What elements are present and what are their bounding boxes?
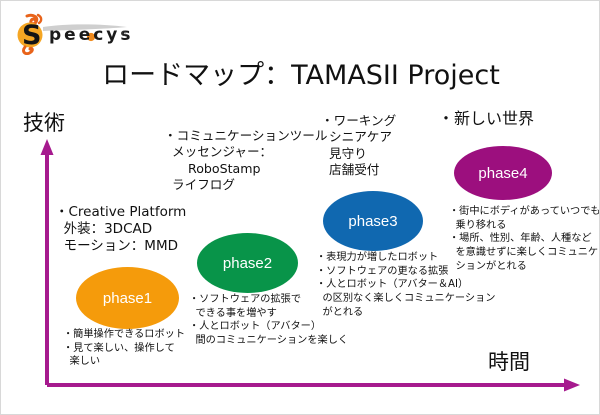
phase4-heading: ・新しい世界 bbox=[438, 109, 534, 130]
phase3-heading: ・ワーキング シニアケア 見守り 店舗受付 bbox=[321, 113, 396, 178]
logo-s-letter: S bbox=[22, 20, 41, 51]
phase1-label: phase1 bbox=[103, 290, 152, 307]
registered-mark: ® bbox=[121, 31, 126, 38]
phase3-bubble[interactable]: phase3 bbox=[323, 191, 423, 251]
y-axis-arrowhead bbox=[41, 139, 54, 155]
phase4-bubble[interactable]: phase4 bbox=[454, 146, 552, 200]
speecys-logo: S peecys ® bbox=[9, 13, 134, 55]
phase3-label: phase3 bbox=[348, 213, 397, 230]
phase4-description: ・街中にボディがあっていつでも 乗り移れる ・場所、性別、年齢、人種など を意識… bbox=[449, 205, 600, 273]
phase1-description: ・簡単操作できるロボット ・見て楽しい、操作して 楽しい bbox=[63, 328, 185, 369]
phase1-heading: ・Creative Platform 外装：3DCAD モーション：MMD bbox=[55, 204, 186, 255]
roadmap-slide: S peecys ® ロードマップ：TAMASII Project 技術 時間 … bbox=[0, 0, 600, 415]
phase2-bubble[interactable]: phase2 bbox=[197, 233, 298, 293]
x-axis-arrowhead bbox=[564, 379, 580, 392]
x-axis-label: 時間 bbox=[488, 346, 530, 376]
y-axis-label: 技術 bbox=[23, 107, 65, 137]
phase4-label: phase4 bbox=[478, 165, 527, 182]
phase1-bubble[interactable]: phase1 bbox=[76, 267, 179, 329]
phase2-heading: ・コミュニケーションツール メッセンジャー： RoboStamp ライフログ bbox=[164, 128, 327, 193]
phase2-label: phase2 bbox=[223, 255, 272, 272]
page-title: ロードマップ：TAMASII Project bbox=[1, 53, 600, 92]
